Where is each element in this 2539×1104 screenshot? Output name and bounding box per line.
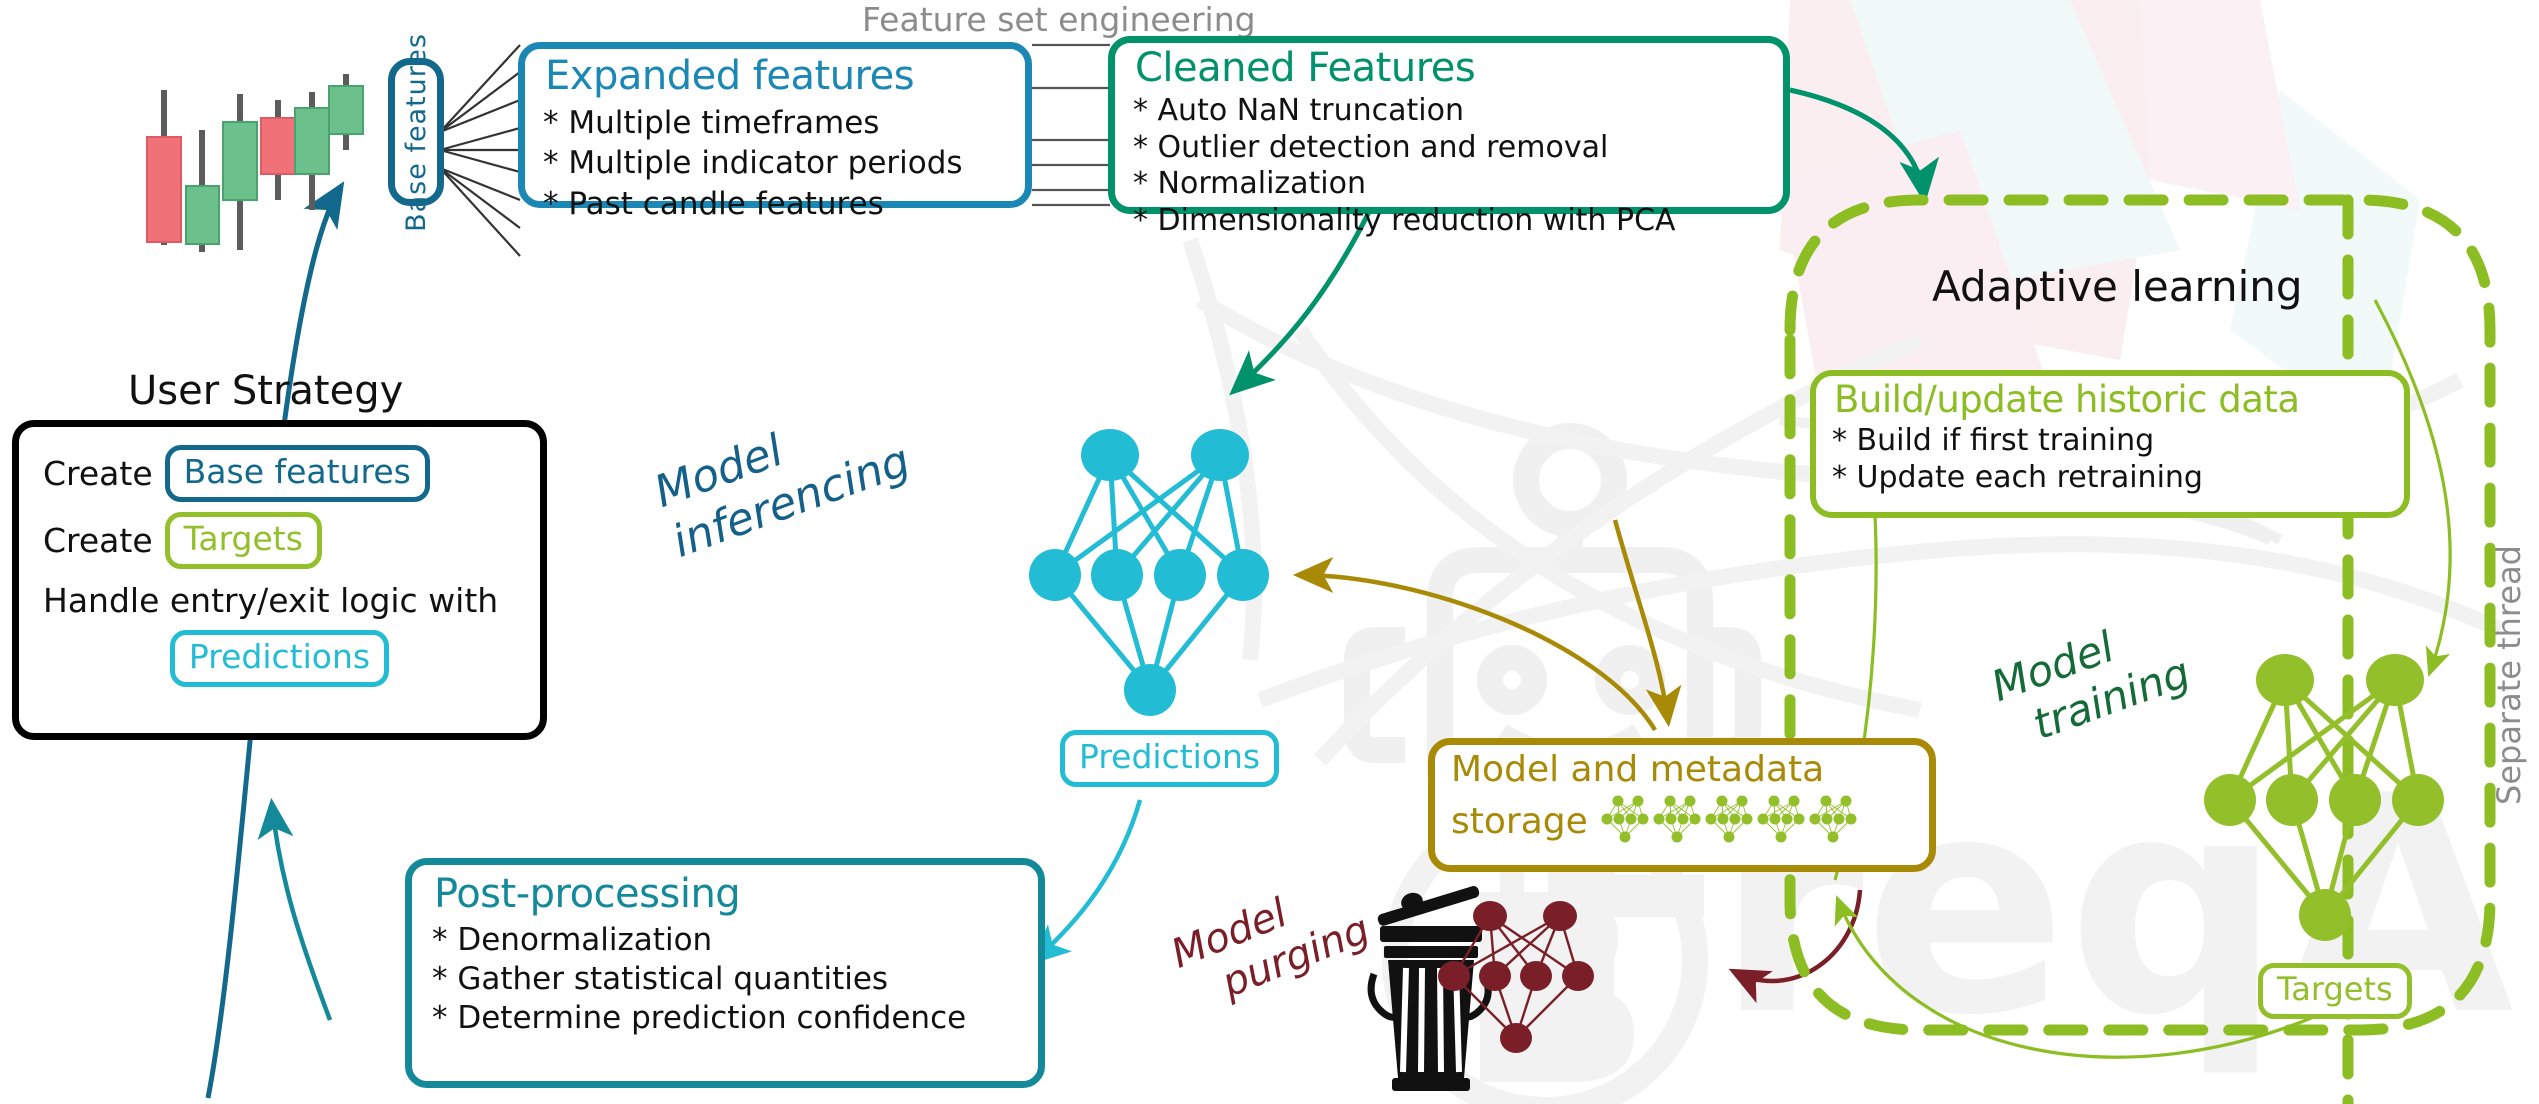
expanded-features-bullet: * Multiple timeframes <box>543 103 1007 143</box>
user-strategy-heading: User Strategy <box>128 368 403 414</box>
targets-pill[interactable]: Targets <box>165 512 322 569</box>
feature-set-engineering-label: Feature set engineering <box>862 0 1256 39</box>
user-strategy-create-label-1: Create <box>43 454 153 493</box>
post-processing-bullet: * Determine prediction confidence <box>432 999 1018 1038</box>
build-update-historic-data-box[interactable]: Build/update historic data * Build if fi… <box>1810 370 2410 518</box>
expanded-features-title: Expanded features <box>545 53 1007 99</box>
cleaned-features-bullet: * Outlier detection and removal <box>1133 130 1765 167</box>
base-features-label: Base features <box>401 33 432 232</box>
build-update-bullet: * Update each retraining <box>1832 460 2388 497</box>
cyan-neural-network <box>1035 425 1295 725</box>
cleaned-features-box[interactable]: Cleaned Features * Auto NaN truncation *… <box>1108 36 1790 214</box>
model-storage-line1: Model and metadata <box>1451 749 1913 790</box>
expanded-features-bullet: * Multiple indicator periods <box>543 143 1007 183</box>
user-strategy-box[interactable]: Create Base features Create Targets Hand… <box>12 420 547 740</box>
model-purging-label: Model purging <box>1165 864 1376 1021</box>
cleaned-features-title: Cleaned Features <box>1135 45 1765 91</box>
user-strategy-logic-text: Handle entry/exit logic with <box>43 581 516 620</box>
targets-node[interactable]: Targets <box>2258 963 2412 1019</box>
model-inferencing-label: Model inferencing <box>648 385 917 569</box>
user-strategy-create-label-2: Create <box>43 521 153 560</box>
cleaned-features-bullet: * Dimensionality reduction with PCA <box>1133 203 1765 240</box>
post-processing-title: Post-processing <box>434 871 1018 917</box>
expanded-features-bullet: * Past candle features <box>543 184 1007 224</box>
freqai-architecture-diagram: FreqAI <box>0 0 2539 1104</box>
adaptive-learning-label: Adaptive learning <box>1932 262 2303 311</box>
post-processing-box[interactable]: Post-processing * Denormalization * Gath… <box>405 858 1045 1088</box>
model-metadata-storage-box[interactable]: Model and metadata storage <box>1428 738 1936 872</box>
stored-models-network-icons <box>1604 792 1904 850</box>
targets-node-label: Targets <box>2258 963 2412 1019</box>
model-training-label: Model training <box>1985 600 2197 759</box>
base-features-box[interactable]: Base features <box>388 58 444 206</box>
expanded-features-box[interactable]: Expanded features * Multiple timeframes … <box>518 42 1032 208</box>
base-features-pill[interactable]: Base features <box>165 445 430 502</box>
green-neural-network <box>2210 650 2470 950</box>
maroon-neural-network <box>1442 898 1632 1058</box>
predictions-pill[interactable]: Predictions <box>170 630 389 687</box>
build-update-bullet: * Build if first training <box>1832 423 2388 460</box>
model-storage-line2: storage <box>1451 801 1588 842</box>
cleaned-features-bullet: * Auto NaN truncation <box>1133 93 1765 130</box>
separate-thread-label: Separate thread <box>2490 545 2528 805</box>
build-update-title: Build/update historic data <box>1834 378 2388 421</box>
post-processing-bullet: * Gather statistical quantities <box>432 960 1018 999</box>
predictions-node[interactable]: Predictions <box>1060 730 1279 787</box>
predictions-node-label: Predictions <box>1060 730 1279 787</box>
post-processing-bullet: * Denormalization <box>432 921 1018 960</box>
cleaned-features-bullet: * Normalization <box>1133 166 1765 203</box>
candlestick-chart <box>140 70 370 260</box>
